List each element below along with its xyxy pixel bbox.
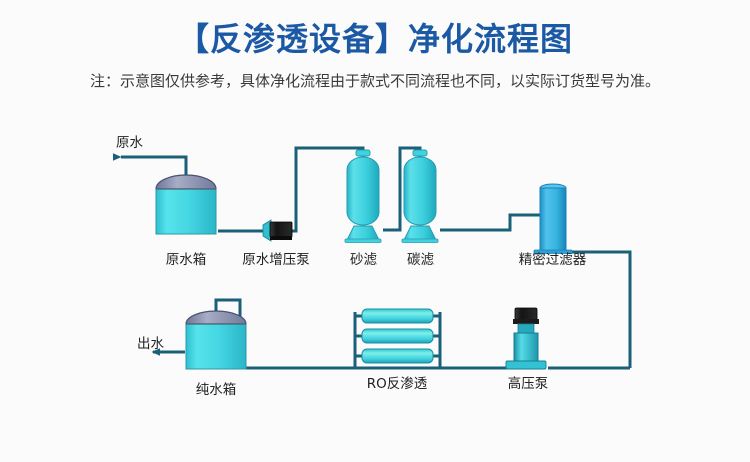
caption-carbon-filter: 碳滤: [393, 248, 448, 268]
inlet-arrow-icon: [113, 153, 122, 161]
caption-raw-water-tank: 原水箱: [146, 248, 226, 268]
pipe-carbon-to-precision: [440, 215, 540, 230]
caption-precision-filter: 精密过滤器: [500, 248, 605, 268]
caption-pure-water-tank: 纯水箱: [186, 378, 246, 398]
pipe-precision-to-hp: [566, 252, 630, 368]
precision-filter[interactable]: [534, 184, 572, 254]
pipe-inlet-to-raw-tank: [121, 157, 186, 177]
inlet-label: 原水: [116, 131, 143, 151]
sand-filter-vessel[interactable]: [345, 150, 381, 243]
caption-raw-booster-pump: 原水增压泵: [221, 248, 331, 268]
page-title: 【反渗透设备】净化流程图: [0, 14, 750, 60]
caption-sand-filter: 砂滤: [336, 248, 391, 268]
carbon-filter-vessel[interactable]: [402, 150, 438, 243]
caption-high-pressure-pump: 高压泵: [498, 372, 558, 392]
process-flow-diagram: [0, 100, 750, 462]
caption-ro-membrane: RO反渗透: [347, 372, 447, 392]
raw-water-tank[interactable]: [156, 175, 216, 234]
outlet-label: 出水: [137, 332, 164, 352]
ro-membrane-rack[interactable]: [362, 309, 433, 363]
high-pressure-pump[interactable]: [506, 308, 546, 369]
page-subtitle-note: 注：示意图仅供参考，具体净化流程由于款式不同流程也不同，以实际订货型号为准。: [0, 70, 750, 91]
raw-booster-pump[interactable]: [263, 220, 292, 241]
pure-water-tank[interactable]: [186, 311, 246, 369]
flow-diagram-page: 【反渗透设备】净化流程图 注：示意图仅供参考，具体净化流程由于款式不同流程也不同…: [0, 0, 750, 462]
